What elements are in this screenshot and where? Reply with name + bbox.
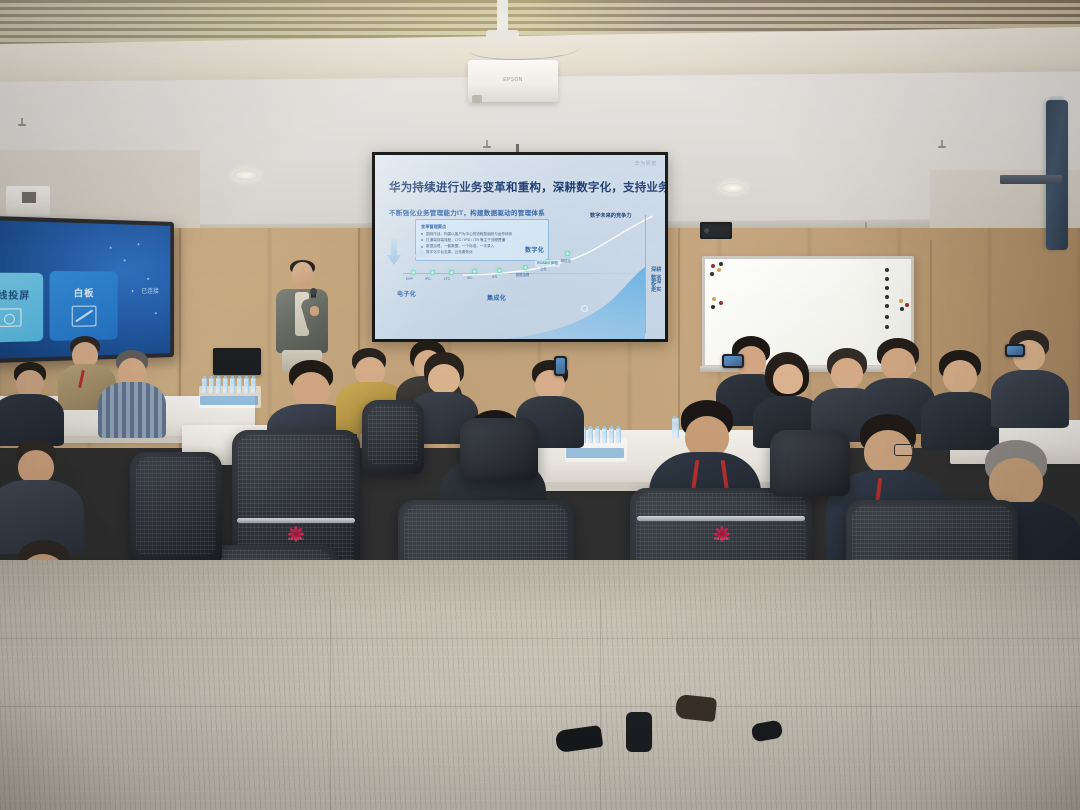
timeline-label: ISC <box>467 276 473 280</box>
shoe <box>675 694 717 722</box>
magnet <box>899 299 903 303</box>
carpet-seam <box>330 600 331 810</box>
magnet <box>719 262 723 266</box>
era-label-left: 电子化 <box>397 289 416 298</box>
office-chair[interactable] <box>770 430 850 496</box>
era-label-right: 数字化 <box>525 245 544 254</box>
projector-brand-label: EPSON <box>496 77 530 83</box>
sprinkler-head <box>483 140 491 150</box>
magnet <box>885 325 889 329</box>
carpet-seam <box>600 600 601 810</box>
projection-screen: 华为机密 华为持续进行业务变革和重构，深耕数字化，支持业务快速成长 不断强化业务… <box>372 152 668 342</box>
timeline-dot <box>411 270 416 275</box>
slide-title: 华为持续进行业务变革和重构，深耕数字化，支持业务快速成长 <box>389 179 655 195</box>
chair-lumbar-rail <box>637 516 804 521</box>
attendee <box>0 440 78 550</box>
magnet <box>885 268 889 272</box>
tile-label: 白板 <box>74 285 95 299</box>
water-bottle <box>609 428 614 443</box>
attendee <box>0 362 60 442</box>
sprinkler-head <box>18 118 26 128</box>
carpet-seam <box>0 638 1080 639</box>
screen-share-icon <box>0 308 22 327</box>
magnet <box>717 268 721 272</box>
display-tile-screen-share[interactable]: 无线投屏 <box>0 272 43 342</box>
display-status-text: 已连接 <box>141 286 158 295</box>
slide-annotation-top: 数字未来的竞争力 <box>590 213 632 221</box>
attendee <box>995 330 1061 426</box>
water-bottle <box>230 378 235 393</box>
attendee <box>100 350 162 436</box>
huawei-wordmark: HUAWEI <box>282 537 310 541</box>
projector-mount-plate <box>486 30 519 39</box>
timeline-label: IFS <box>492 275 497 279</box>
water-bottle <box>202 378 207 393</box>
ceiling-downlight <box>720 183 746 193</box>
timeline-label: LTC <box>444 277 450 281</box>
projector-lens-icon <box>472 95 482 103</box>
magnet <box>710 272 714 276</box>
water-bottle <box>251 378 256 393</box>
magnet <box>885 315 889 319</box>
timeline-dot <box>449 270 454 275</box>
water-bottle <box>616 428 621 443</box>
water-bottle <box>602 428 607 443</box>
wall-seam <box>678 228 680 428</box>
triangle-marker-icon <box>414 247 428 257</box>
timeline-label: ERP <box>406 277 413 281</box>
timeline-dot <box>472 269 477 274</box>
timeline-dot <box>430 270 435 275</box>
office-chair[interactable] <box>130 452 222 564</box>
phone <box>1005 344 1025 357</box>
magnet <box>900 307 904 311</box>
timeline-dot <box>565 251 570 256</box>
water-bottle <box>223 378 228 393</box>
magnet <box>885 286 889 290</box>
chair-mesh <box>368 405 418 464</box>
display-tile-whiteboard[interactable]: 白板 <box>50 271 118 341</box>
growth-curve <box>463 215 653 277</box>
camera-lens-icon <box>20 190 38 205</box>
huawei-logo-icon: HUAWEI <box>712 526 732 542</box>
magnet <box>711 305 715 309</box>
water-bottle <box>216 378 221 393</box>
water-bottle <box>244 378 249 393</box>
magnet <box>905 303 909 307</box>
conference-room-photo: EPSON 无线投屏 白板 已连接 华为 <box>0 0 1080 810</box>
av-control-panel[interactable] <box>700 222 732 239</box>
huawei-wordmark: HUAWEI <box>708 537 736 541</box>
pack-label <box>566 448 624 458</box>
water-bottle <box>595 428 600 443</box>
era-label-mid: 集成化 <box>487 293 506 302</box>
projector-mount <box>497 0 508 34</box>
office-chair[interactable] <box>460 418 538 480</box>
tile-label: 无线投屏 <box>0 288 30 302</box>
timeline-label: IPD <box>425 277 431 281</box>
trouser-leg <box>626 712 652 752</box>
phone <box>722 354 744 368</box>
magnet <box>885 304 889 308</box>
slide-annotation-side-2: 走深走实 <box>651 279 665 295</box>
carpet-floor <box>0 560 1080 810</box>
pack-label <box>200 396 258 405</box>
slide-confidential-mark: 华为机密 <box>635 160 657 167</box>
presenter <box>270 262 332 370</box>
magnet <box>885 295 889 299</box>
presenter-hand <box>310 306 319 316</box>
magnet <box>885 277 889 281</box>
annotation-divider <box>645 215 646 333</box>
chair-back <box>460 418 538 480</box>
carpet-seam <box>870 600 871 810</box>
chair-lumbar-rail <box>237 518 355 523</box>
water-bottle <box>588 428 593 443</box>
sprinkler-head <box>938 140 946 150</box>
slide-kpi-tag: ROADS 体验 <box>535 260 560 267</box>
wall-shelf <box>1000 175 1062 184</box>
magnet <box>712 297 716 301</box>
office-chair[interactable] <box>362 400 424 474</box>
down-arrow-icon <box>387 239 401 265</box>
timeline-dot <box>523 265 528 270</box>
water-bottle <box>209 378 214 393</box>
magnet <box>719 301 723 305</box>
chair-back <box>770 430 850 496</box>
whiteboard-pen-icon <box>72 305 97 326</box>
glasses-icon <box>894 444 914 456</box>
phone <box>554 356 567 376</box>
carpet-seam <box>0 706 1080 707</box>
presentation-slide: 华为机密 华为持续进行业务变革和重构，深耕数字化，支持业务快速成长 不断强化业务… <box>375 155 665 339</box>
timeline-dot <box>497 268 502 273</box>
ai-circle-marker <box>581 305 588 312</box>
ceiling-downlight <box>233 170 259 180</box>
chair-mesh <box>136 457 216 554</box>
water-bottle <box>237 378 242 393</box>
huawei-logo-icon: HUAWEI <box>286 526 306 542</box>
magnet <box>711 264 715 268</box>
side-monitor <box>213 348 261 375</box>
timeline-label: 数据治理 <box>516 272 529 277</box>
timeline-label: 智能化 <box>561 258 571 263</box>
